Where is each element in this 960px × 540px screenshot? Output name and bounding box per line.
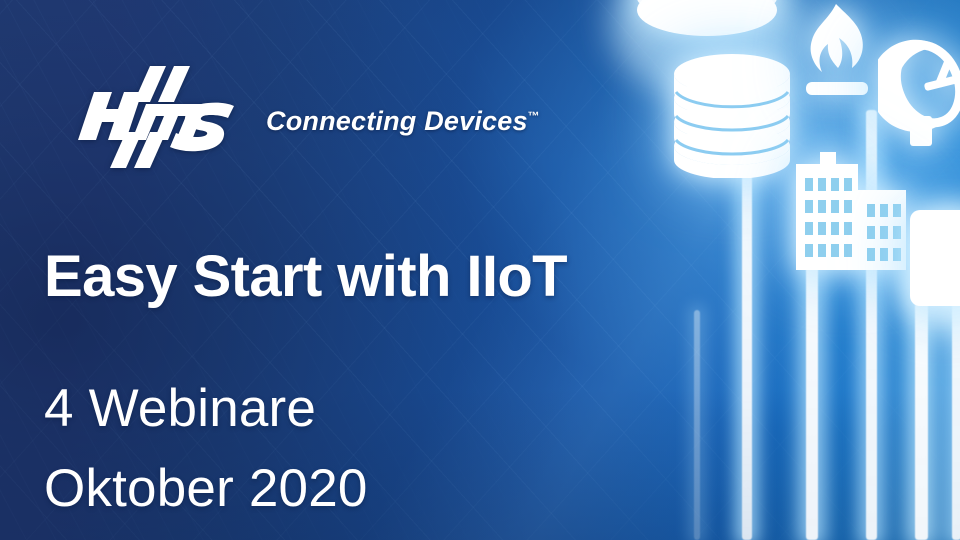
page-title: Easy Start with IIoT bbox=[44, 248, 567, 306]
database-icon bbox=[666, 52, 798, 178]
promo-banner: Connecting Devices™ Easy Start with IIoT… bbox=[0, 0, 960, 540]
satellite-dish-icon bbox=[878, 34, 960, 152]
tagline-text: Connecting Devices bbox=[266, 106, 528, 136]
buildings-icon bbox=[792, 150, 916, 272]
hms-logo bbox=[74, 62, 246, 172]
glow-icon bbox=[906, 206, 960, 316]
flame-icon bbox=[786, 2, 886, 108]
brand-tagline: Connecting Devices™ bbox=[266, 106, 540, 137]
subtitle-line-2: Oktober 2020 bbox=[44, 462, 368, 515]
trademark-symbol: ™ bbox=[528, 109, 540, 123]
hms-logo-mark bbox=[74, 62, 246, 172]
disk-platter-icon bbox=[622, 0, 792, 50]
subtitle-line-1: 4 Webinare bbox=[44, 382, 316, 435]
